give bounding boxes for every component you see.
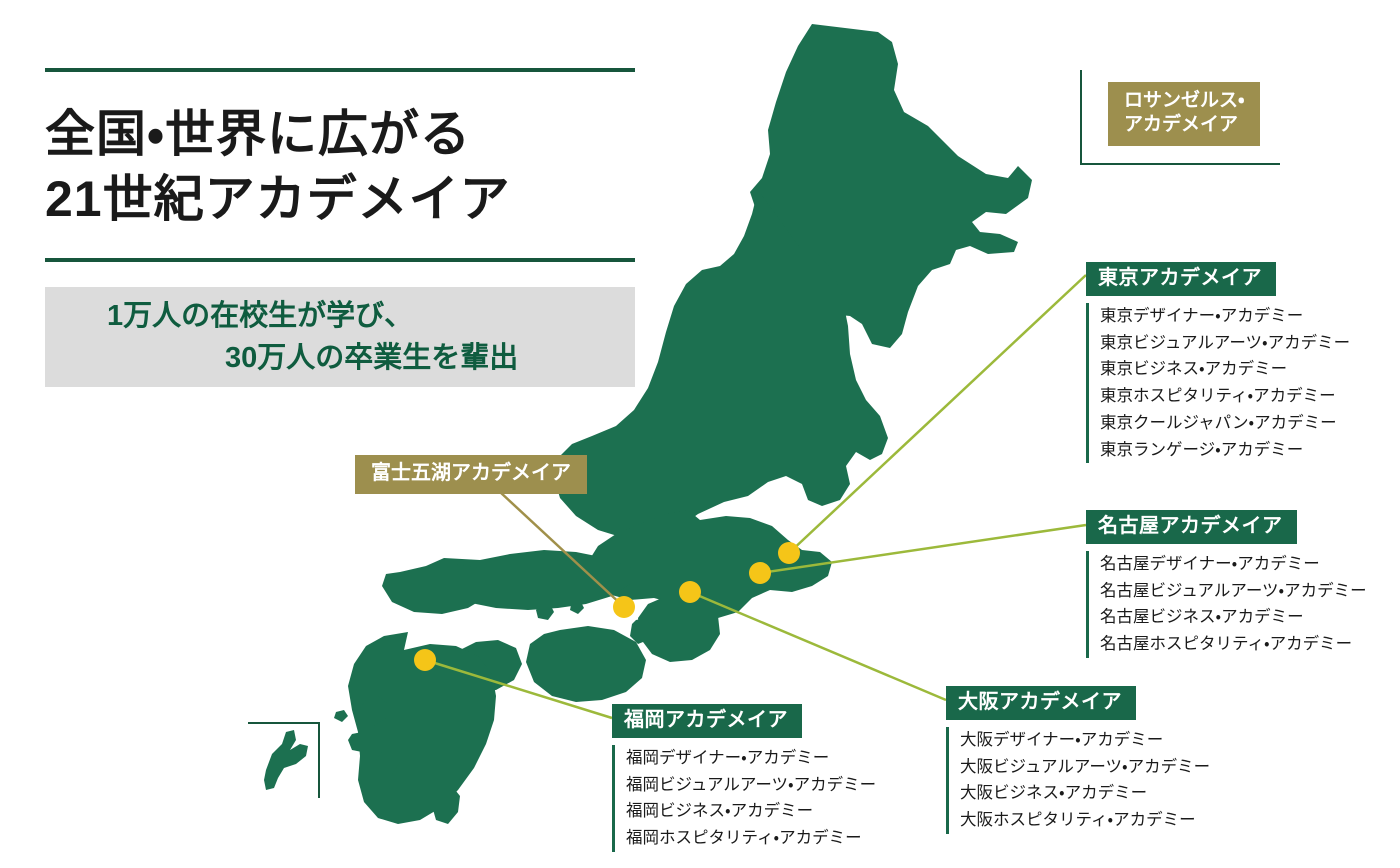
marker-nagoya	[749, 562, 771, 584]
callout-heading-nagoya[interactable]: 名古屋アカデメイア	[1086, 510, 1297, 544]
list-item: 福岡ビジュアルアーツ・アカデミー	[626, 772, 876, 799]
page-title-line2: 21世紀アカデメイア	[45, 167, 635, 232]
tag-fuji-five-lakes-academeia[interactable]: 富士五湖アカデメイア	[355, 455, 587, 494]
list-item: 東京ビジュアルアーツ・アカデミー	[1100, 330, 1350, 357]
marker-fukuoka	[414, 649, 436, 671]
list-item: 名古屋ビジュアルアーツ・アカデミー	[1100, 578, 1367, 605]
list-item: 福岡ビジネス・アカデミー	[626, 798, 876, 825]
list-item: 名古屋ビジネス・アカデミー	[1100, 604, 1367, 631]
list-item: 東京ホスピタリティ・アカデミー	[1100, 383, 1350, 410]
title-rule-bottom	[45, 258, 635, 262]
list-item: 大阪ホスピタリティ・アカデミー	[960, 807, 1210, 834]
list-item: 名古屋ホスピタリティ・アカデミー	[1100, 631, 1367, 658]
callout-nagoya: 名古屋アカデメイア 名古屋デザイナー・アカデミー 名古屋ビジュアルアーツ・アカデ…	[1086, 510, 1367, 658]
tag-label-line1: ロサンゼルス・	[1124, 89, 1244, 113]
title-block: 全国・世界に広がる 21世紀アカデメイア	[45, 68, 635, 262]
tag-los-angeles-academeia[interactable]: ロサンゼルス・ アカデメイア	[1108, 82, 1260, 146]
list-item: 東京ランゲージ・アカデミー	[1100, 437, 1350, 464]
region-chugoku-west	[382, 564, 494, 614]
school-list-nagoya: 名古屋デザイナー・アカデミー 名古屋ビジュアルアーツ・アカデミー 名古屋ビジネス…	[1086, 551, 1367, 658]
list-item: 大阪デザイナー・アカデミー	[960, 727, 1210, 754]
list-item: 福岡デザイナー・アカデミー	[626, 745, 876, 772]
list-item: 名古屋デザイナー・アカデミー	[1100, 551, 1367, 578]
tag-label-line2: アカデメイア	[1124, 113, 1244, 137]
page-title-line1: 全国・世界に広がる	[45, 102, 635, 167]
list-item: 福岡ホスピタリティ・アカデミー	[626, 825, 876, 852]
callout-heading-osaka[interactable]: 大阪アカデメイア	[946, 686, 1136, 720]
subtitle-band: 1万人の在校生が学び、 30万人の卒業生を輩出	[45, 287, 635, 387]
list-item: 東京クールジャパン・アカデミー	[1100, 410, 1350, 437]
bracket-vertical-line	[1080, 70, 1082, 165]
okinawa-inset-bracket	[248, 722, 320, 798]
inset-top-line	[248, 722, 320, 724]
subtitle-line1: 1万人の在校生が学び、	[45, 295, 635, 337]
callout-tokyo: 東京アカデメイア 東京デザイナー・アカデミー 東京ビジュアルアーツ・アカデミー …	[1086, 262, 1350, 463]
marker-fuji	[613, 596, 635, 618]
marker-tokyo	[778, 542, 800, 564]
list-item: 東京デザイナー・アカデミー	[1100, 303, 1350, 330]
callout-heading-fukuoka[interactable]: 福岡アカデメイア	[612, 704, 802, 738]
region-shikoku	[526, 626, 646, 702]
region-okinawa-islet	[334, 710, 348, 722]
school-list-osaka: 大阪デザイナー・アカデミー 大阪ビジュアルアーツ・アカデミー 大阪ビジネス・アカ…	[946, 727, 1210, 834]
connector-nagoya	[760, 525, 1086, 573]
school-list-fukuoka: 福岡デザイナー・アカデミー 福岡ビジュアルアーツ・アカデミー 福岡ビジネス・アカ…	[612, 745, 876, 852]
list-item: 大阪ビジュアルアーツ・アカデミー	[960, 754, 1210, 781]
callout-fukuoka: 福岡アカデメイア 福岡デザイナー・アカデミー 福岡ビジュアルアーツ・アカデミー …	[612, 704, 876, 852]
title-rule-top	[45, 68, 635, 72]
connector-osaka	[690, 592, 946, 700]
infographic-root: 全国・世界に広がる 21世紀アカデメイア 1万人の在校生が学び、 30万人の卒業…	[0, 0, 1400, 868]
callout-osaka: 大阪アカデメイア 大阪デザイナー・アカデミー 大阪ビジュアルアーツ・アカデミー …	[946, 686, 1210, 834]
subtitle-line2: 30万人の卒業生を輩出	[45, 337, 635, 379]
list-item: 東京ビジネス・アカデミー	[1100, 356, 1350, 383]
inset-right-line	[318, 722, 320, 798]
school-list-tokyo: 東京デザイナー・アカデミー 東京ビジュアルアーツ・アカデミー 東京ビジネス・アカ…	[1086, 303, 1350, 463]
callout-heading-tokyo[interactable]: 東京アカデメイア	[1086, 262, 1276, 296]
bracket-horizontal-line	[1080, 163, 1280, 165]
list-item: 大阪ビジネス・アカデミー	[960, 780, 1210, 807]
marker-osaka	[679, 581, 701, 603]
